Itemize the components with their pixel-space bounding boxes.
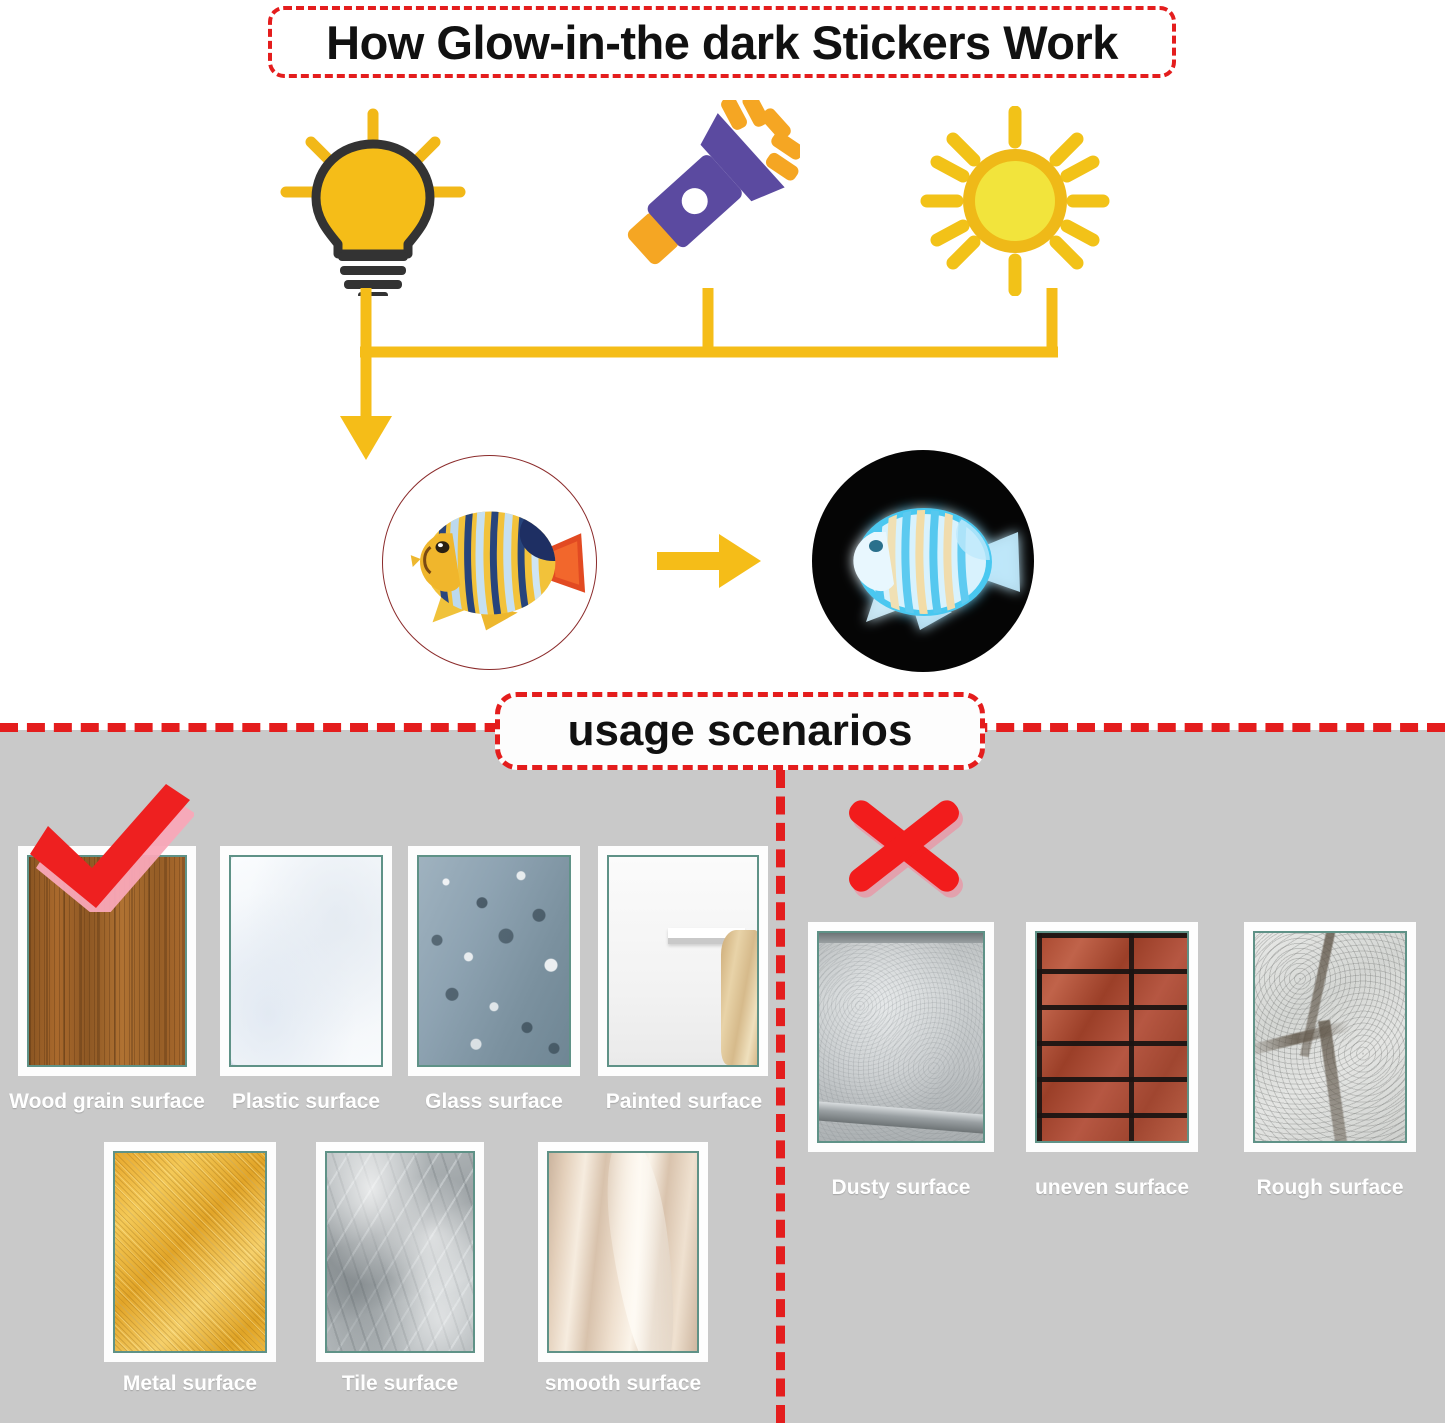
surface-card-frame [113, 1151, 267, 1353]
crack-line [1318, 1020, 1348, 1143]
surface-card-frame [325, 1151, 475, 1353]
surface-card-plastic[interactable] [220, 846, 392, 1076]
surface-card-metal[interactable] [104, 1142, 276, 1362]
page-title: How Glow-in-the dark Stickers Work [326, 15, 1118, 70]
transform-arrow-icon [655, 530, 765, 592]
hanging-towel [721, 930, 759, 1065]
tile-texture [327, 1153, 473, 1351]
sun-icon [915, 106, 1115, 296]
surface-card-frame [229, 855, 383, 1067]
surface-card-glass[interactable] [408, 846, 580, 1076]
surface-card-brick[interactable] [1026, 922, 1198, 1152]
surface-caption-dusty: Dusty surface [798, 1176, 1004, 1200]
surface-card-smooth[interactable] [538, 1142, 708, 1362]
check-mark-icon [18, 782, 194, 912]
surface-caption-metal: Metal surface [94, 1372, 286, 1396]
title-badge: How Glow-in-the dark Stickers Work [268, 6, 1176, 78]
wall-pipe [817, 1101, 985, 1134]
usage-divider-vertical [776, 770, 785, 1423]
surface-card-frame [817, 931, 985, 1143]
usage-scenarios-badge: usage scenarios [495, 692, 985, 770]
surface-caption-painted: Painted surface [588, 1090, 780, 1114]
surface-caption-tile: Tile surface [306, 1372, 494, 1396]
surface-caption-smooth: smooth surface [528, 1372, 718, 1396]
light-bulb-icon [278, 106, 468, 296]
glowing-fish-circle [812, 450, 1034, 672]
surface-caption-brick: uneven surface [1016, 1176, 1208, 1200]
surface-caption-glass: Glass surface [398, 1090, 590, 1114]
glass-texture [419, 857, 569, 1065]
surface-card-painted[interactable] [598, 846, 768, 1076]
painted-texture [609, 857, 757, 1065]
rough-texture [1255, 933, 1405, 1141]
usage-scenarios-label: usage scenarios [568, 706, 913, 756]
satin-fold [597, 1151, 687, 1353]
surface-card-frame [547, 1151, 699, 1353]
smooth-texture [549, 1153, 697, 1351]
daylight-fish-circle [382, 455, 597, 670]
surface-card-dusty[interactable] [808, 922, 994, 1152]
flashlight-icon [600, 100, 800, 290]
brick-texture [1037, 933, 1187, 1141]
infographic-page: How Glow-in-the dark Stickers Work [0, 0, 1445, 1423]
surface-card-rough[interactable] [1244, 922, 1416, 1152]
surface-card-frame [1253, 931, 1407, 1143]
surface-caption-rough: Rough surface [1234, 1176, 1426, 1200]
light-flow-connector [330, 280, 1090, 480]
surface-card-frame [417, 855, 571, 1067]
surface-caption-plastic: Plastic surface [210, 1090, 402, 1114]
surface-card-frame [607, 855, 759, 1067]
surface-card-frame [1035, 931, 1189, 1143]
dusty-texture [819, 933, 983, 1141]
surface-caption-wood: Wood grain surface [8, 1090, 206, 1114]
brick-row-offset [1037, 969, 1187, 1005]
surface-card-tile[interactable] [316, 1142, 484, 1362]
cross-mark-icon [842, 788, 972, 908]
plastic-texture [231, 857, 381, 1065]
wall-top-edge [819, 933, 983, 943]
metal-texture [115, 1153, 265, 1351]
